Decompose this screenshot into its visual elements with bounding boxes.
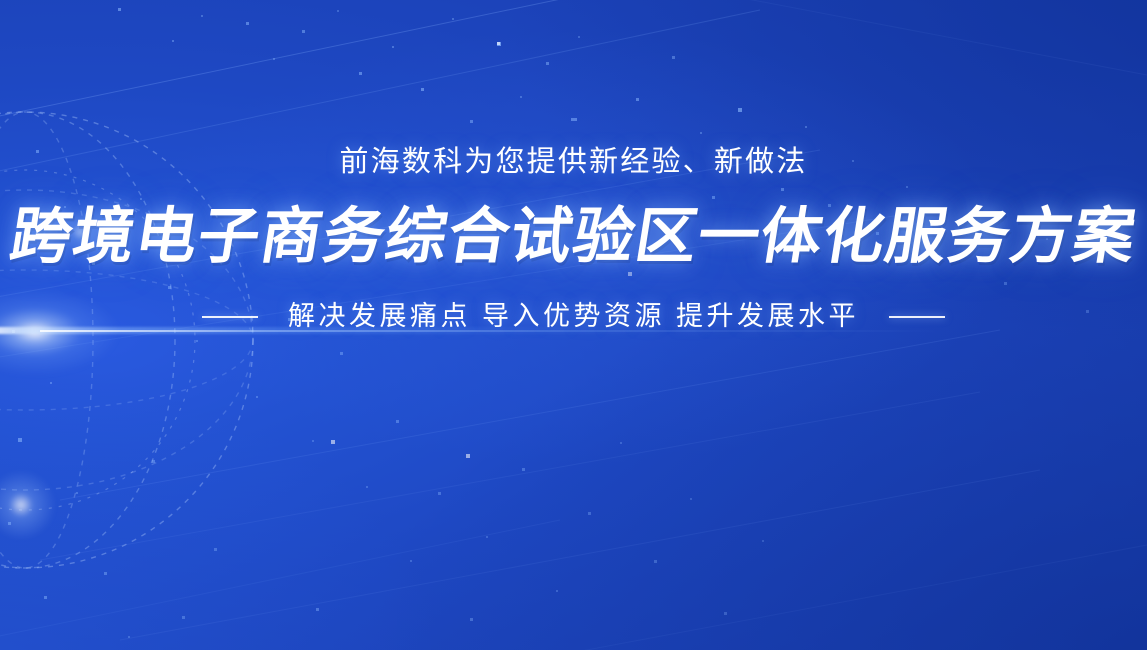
- banner-headline: 跨境电子商务综合试验区一体化服务方案: [6, 206, 1141, 267]
- banner-content: 前海数科为您提供新经验、新做法 跨境电子商务综合试验区一体化服务方案 解决发展痛…: [0, 0, 1147, 650]
- banner-subtitle: 解决发展痛点 导入优势资源 提升发展水平: [288, 303, 859, 330]
- rule-left-decor: [202, 316, 258, 318]
- promo-banner: 前海数科为您提供新经验、新做法 跨境电子商务综合试验区一体化服务方案 解决发展痛…: [0, 0, 1147, 650]
- banner-tagline: 前海数科为您提供新经验、新做法: [339, 148, 807, 177]
- banner-subtitle-row: 解决发展痛点 导入优势资源 提升发展水平: [202, 303, 945, 330]
- rule-right-decor: [889, 316, 945, 318]
